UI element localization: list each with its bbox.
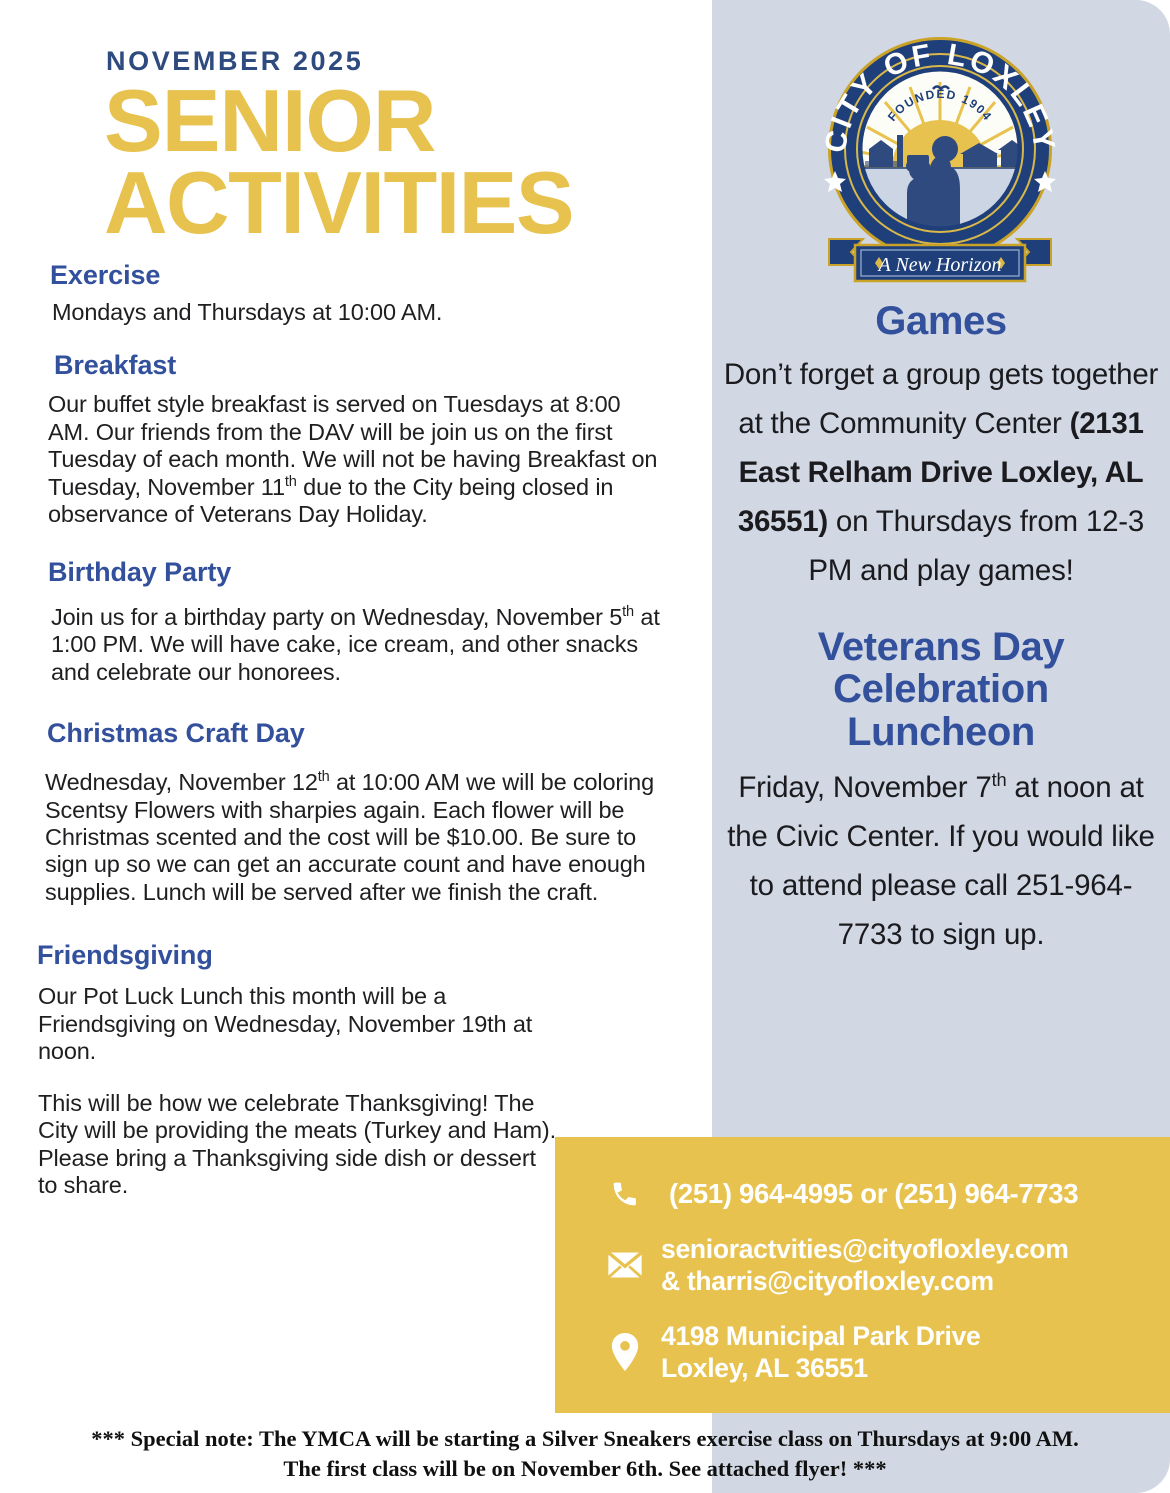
flyer-page: NOVEMBER 2025 SENIOR ACTIVITIES Exercise…: [0, 0, 1170, 1493]
contact-address-line2: Loxley, AL 36551: [661, 1353, 868, 1383]
section-birthday-party: Birthday Party Join us for a birthday pa…: [36, 557, 666, 686]
games-text-post: on Thursdays from 12-3 PM and play games…: [808, 505, 1144, 587]
section-breakfast-heading: Breakfast: [54, 350, 666, 381]
breakfast-ordinal-suffix: th: [285, 474, 297, 490]
games-body: Don’t forget a group gets together at th…: [722, 351, 1160, 596]
city-of-loxley-seal-logo: CITY OF LOXLEY FOUNDED 1904 A New Horizo…: [815, 27, 1065, 285]
phone-icon: [599, 1177, 651, 1211]
veterans-day-body: Friday, November 7th at noon at the Civi…: [722, 764, 1160, 960]
contact-email-text: senioractvities@cityofloxley.com & tharr…: [661, 1233, 1069, 1298]
contact-email-line1: senioractvities@cityofloxley.com: [661, 1234, 1069, 1264]
craft-text-pre: Wednesday, November 12: [45, 769, 318, 795]
section-christmas-craft-day: Christmas Craft Day Wednesday, November …: [36, 718, 666, 906]
logo-banner-text: A New Horizon: [877, 254, 1002, 276]
footer-line2: The first class will be on November 6th.…: [0, 1454, 1170, 1484]
contact-address-row[interactable]: 4198 Municipal Park Drive Loxley, AL 365…: [599, 1320, 1170, 1385]
contact-email-row[interactable]: senioractvities@cityofloxley.com & tharr…: [599, 1233, 1170, 1298]
contact-email-line2: & tharris@cityofloxley.com: [661, 1266, 994, 1296]
veterans-ordinal-suffix: th: [992, 769, 1007, 790]
footer-special-note: *** Special note: The YMCA will be start…: [0, 1424, 1170, 1483]
section-friendsgiving-body-2: This will be how we celebrate Thanksgivi…: [38, 1090, 558, 1200]
veterans-heading-line1: Veterans Day: [722, 626, 1160, 669]
section-exercise-body: Mondays and Thursdays at 10:00 AM.: [52, 299, 666, 326]
section-exercise: Exercise Mondays and Thursdays at 10:00 …: [36, 260, 666, 326]
footer-line1: *** Special note: The YMCA will be start…: [0, 1424, 1170, 1454]
contact-address-text: 4198 Municipal Park Drive Loxley, AL 365…: [661, 1320, 981, 1385]
section-exercise-heading: Exercise: [50, 260, 666, 291]
envelope-icon: [599, 1250, 651, 1280]
craft-ordinal-suffix: th: [318, 769, 330, 785]
veterans-heading-line3: Luncheon: [722, 711, 1160, 754]
map-pin-icon: [599, 1333, 651, 1371]
birthday-ordinal-suffix: th: [622, 604, 634, 620]
section-craft-heading: Christmas Craft Day: [47, 718, 666, 749]
section-craft-body: Wednesday, November 12th at 10:00 AM we …: [45, 769, 666, 906]
contact-box: (251) 964-4995 or (251) 964-7733 seniora…: [555, 1137, 1170, 1413]
games-heading: Games: [722, 300, 1160, 343]
section-birthday-body: Join us for a birthday party on Wednesda…: [51, 604, 666, 686]
section-friendsgiving-body-1: Our Pot Luck Lunch this month will be a …: [38, 983, 558, 1065]
veterans-text-pre: Friday, November 7: [738, 771, 991, 804]
right-column-content: Games Don’t forget a group gets together…: [722, 300, 1160, 960]
page-title: SENIOR ACTIVITIES: [104, 80, 666, 244]
section-birthday-heading: Birthday Party: [48, 557, 666, 588]
contact-phone-row[interactable]: (251) 964-4995 or (251) 964-7733: [599, 1177, 1170, 1211]
section-friendsgiving-heading: Friendsgiving: [37, 940, 666, 971]
section-breakfast-body: Our buffet style breakfast is served on …: [48, 391, 666, 528]
page-title-line2: ACTIVITIES: [104, 162, 666, 244]
birthday-text-pre: Join us for a birthday party on Wednesda…: [51, 604, 622, 630]
contact-address-line1: 4198 Municipal Park Drive: [661, 1321, 981, 1351]
contact-phone-text: (251) 964-4995 or (251) 964-7733: [669, 1177, 1078, 1211]
section-breakfast: Breakfast Our buffet style breakfast is …: [36, 350, 666, 528]
veterans-heading-line2: Celebration: [722, 668, 1160, 711]
veterans-day-heading: Veterans Day Celebration Luncheon: [722, 626, 1160, 754]
